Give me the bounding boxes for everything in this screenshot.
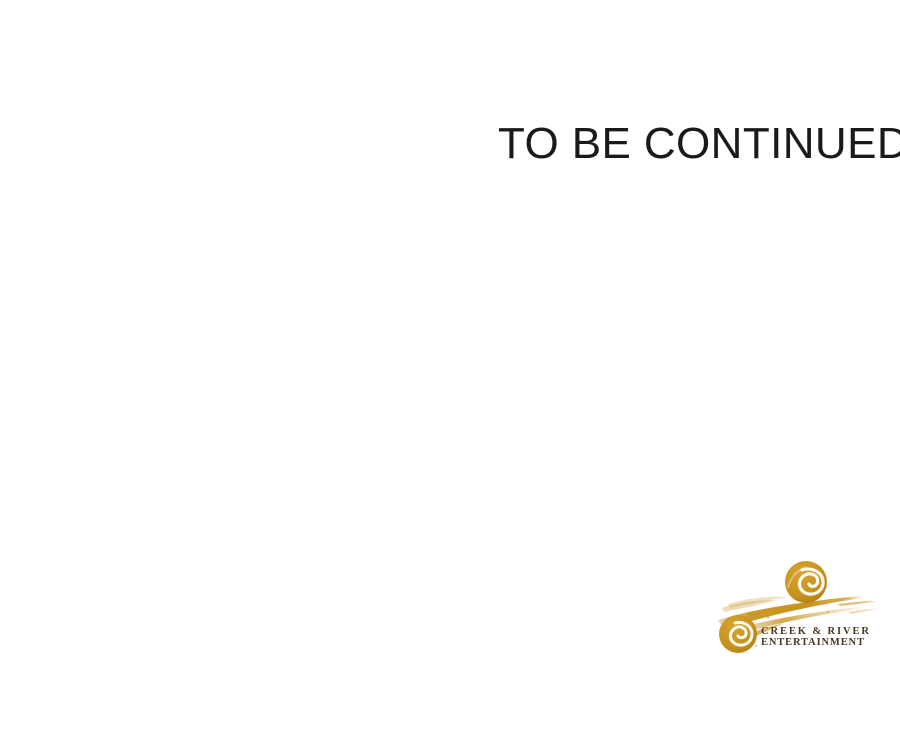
- title-block: TO BE CONTINUED: [498, 118, 868, 170]
- logo-wordmark-line-1: CREEK & RIVER: [761, 626, 876, 637]
- logo: CREEK & RIVER ENTERTAINMENT: [710, 560, 878, 662]
- slide-canvas: TO BE CONTINUED: [0, 0, 900, 751]
- page-title: TO BE CONTINUED: [498, 118, 868, 170]
- logo-wordmark-line-2: ENTERTAINMENT: [761, 637, 876, 649]
- logo-wordmark: CREEK & RIVER ENTERTAINMENT: [761, 626, 876, 649]
